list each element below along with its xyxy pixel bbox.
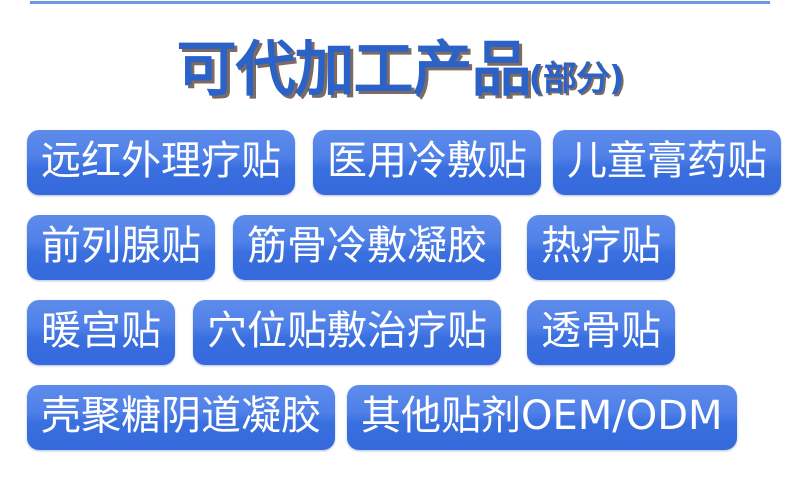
product-chip-children-plaster[interactable]: 儿童膏药贴 [553,130,781,195]
product-chip-tendon-bone-cold-gel[interactable]: 筋骨冷敷凝胶 [233,215,501,280]
product-chip-label: 远红外理疗贴 [41,141,281,181]
top-divider-rule [30,1,770,4]
product-chip-far-infrared-patch[interactable]: 远红外理疗贴 [27,130,295,195]
product-chip-bone-penetrating-patch[interactable]: 透骨贴 [527,300,675,365]
product-chip-label: 暖宫贴 [41,311,161,351]
product-row: 暖宫贴 穴位贴敷治疗贴 透骨贴 [0,290,800,375]
product-chip-heat-therapy-patch[interactable]: 热疗贴 [527,215,675,280]
page-title-main: 可代加工产品 [176,35,530,105]
product-chip-prostate-patch[interactable]: 前列腺贴 [27,215,215,280]
product-chip-warm-palace-patch[interactable]: 暖宫贴 [27,300,175,365]
product-row: 远红外理疗贴 医用冷敷贴 儿童膏药贴 [0,120,800,205]
page-title-sub: (部分) [528,59,623,99]
product-chip-chitosan-vaginal-gel[interactable]: 壳聚糖阴道凝胶 [27,385,335,450]
product-chip-other-patch-oem-odm[interactable]: 其他贴剂OEM/ODM [347,385,737,450]
product-chip-label: 儿童膏药贴 [567,141,767,181]
product-row: 壳聚糖阴道凝胶 其他贴剂OEM/ODM [0,375,800,460]
product-chip-label: 透骨贴 [541,311,661,351]
product-chip-acupoint-application-patch[interactable]: 穴位贴敷治疗贴 [193,300,501,365]
product-row: 前列腺贴 筋骨冷敷凝胶 热疗贴 [0,205,800,290]
product-chip-label: 医用冷敷贴 [327,141,527,181]
product-chip-label: 前列腺贴 [41,226,201,266]
product-chip-label: 壳聚糖阴道凝胶 [41,396,321,436]
product-grid: 远红外理疗贴 医用冷敷贴 儿童膏药贴 前列腺贴 筋骨冷敷凝胶 热疗贴 暖宫贴 穴… [0,120,800,460]
page-title: 可代加工产品(部分) [0,33,800,107]
product-chip-medical-cold-compress[interactable]: 医用冷敷贴 [313,130,541,195]
product-chip-label: 筋骨冷敷凝胶 [247,226,487,266]
product-chip-label: 热疗贴 [541,226,661,266]
product-chip-label: 穴位贴敷治疗贴 [207,311,487,351]
product-chip-label: 其他贴剂OEM/ODM [361,396,723,436]
